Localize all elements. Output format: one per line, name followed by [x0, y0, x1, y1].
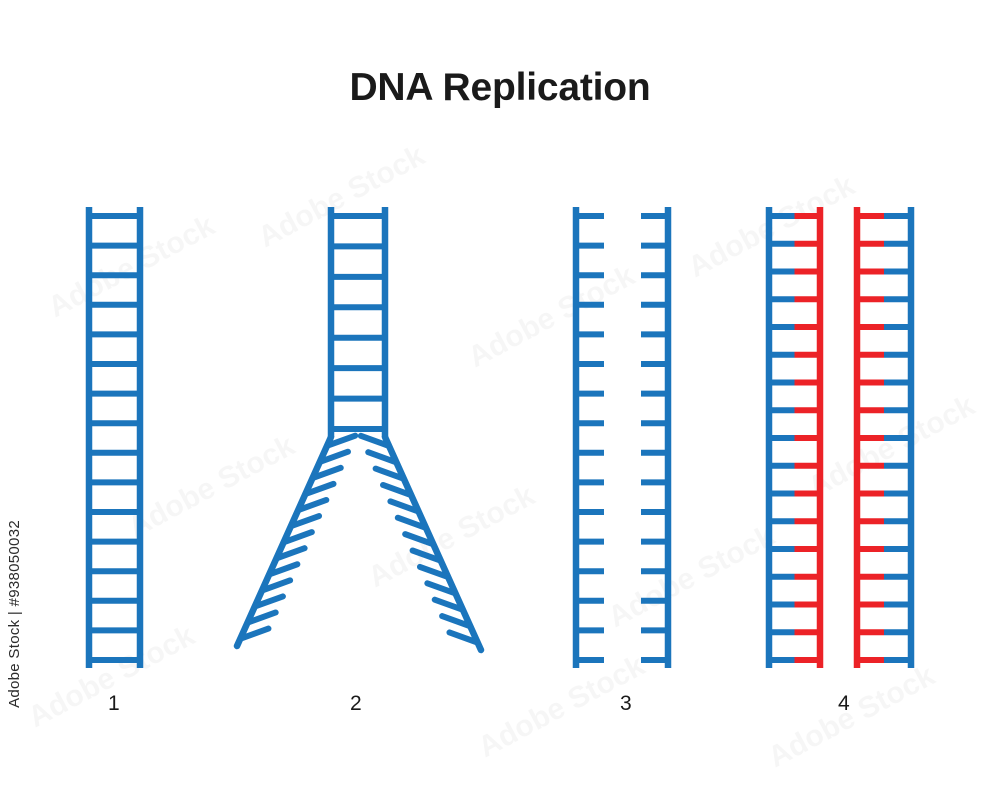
stage-4-daughter-duplexes	[769, 207, 911, 668]
stage-1-parent-double-helix	[89, 207, 140, 668]
stage-label-1: 1	[108, 692, 120, 716]
stage-label-4: 4	[838, 692, 850, 716]
figure-canvas: Adobe Stock Adobe Stock Adobe Stock Adob…	[0, 0, 1000, 786]
stage-2-replication-fork	[237, 207, 481, 650]
stock-credit-watermark: Adobe Stock | #938050032	[6, 520, 23, 708]
stage-label-2: 2	[350, 692, 362, 716]
dna-replication-diagram	[0, 0, 1000, 786]
stage-3-separated-strands	[576, 207, 668, 668]
stage-label-3: 3	[620, 692, 632, 716]
